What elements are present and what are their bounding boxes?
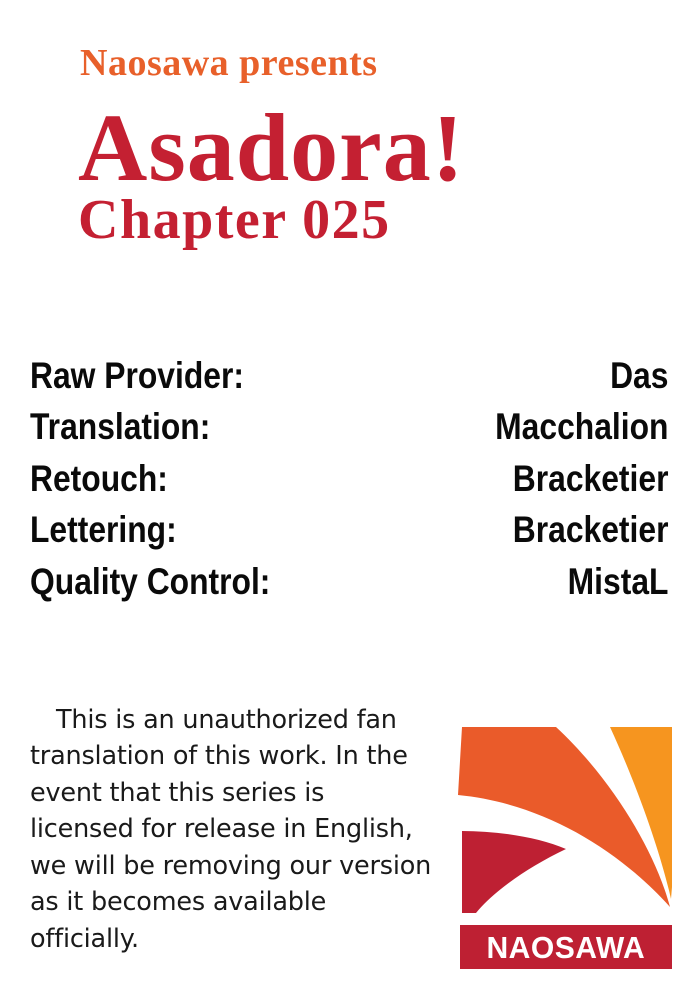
presents-line: Naosawa presents (80, 44, 700, 84)
credit-row: Lettering: Bracketier (30, 504, 668, 555)
credit-role: Translation: (30, 401, 210, 452)
credit-row: Raw Provider: Das (30, 350, 668, 401)
credit-role: Raw Provider: (30, 350, 244, 401)
credit-row: Retouch: Bracketier (30, 453, 668, 504)
credit-name: Das (610, 350, 668, 401)
credit-row: Translation: Macchalion (30, 401, 668, 452)
naosawa-logo-mark-icon (458, 727, 672, 917)
series-title: Asadora! (78, 102, 700, 194)
credit-role: Retouch: (30, 453, 168, 504)
title-block: Naosawa presents Asadora! Chapter 025 (0, 44, 700, 249)
disclaimer-text: This is an unauthorized fan translation … (30, 702, 434, 957)
chapter-number: Chapter 025 (78, 192, 700, 249)
credit-row: Quality Control: MistaL (30, 556, 668, 607)
credit-role: Lettering: (30, 504, 177, 555)
credit-name: Bracketier (513, 504, 669, 555)
logo-banner-text: NAOSAWA (487, 932, 646, 963)
credits-page: Naosawa presents Asadora! Chapter 025 Ra… (0, 0, 700, 1002)
credit-role: Quality Control: (30, 556, 270, 607)
credit-name: MistaL (568, 556, 669, 607)
credit-name: Bracketier (513, 453, 669, 504)
naosawa-logo: NAOSAWA (458, 727, 672, 972)
credit-name: Macchalion (495, 401, 668, 452)
credits-list: Raw Provider: Das Translation: Macchalio… (30, 350, 670, 607)
logo-banner: NAOSAWA (460, 925, 672, 969)
